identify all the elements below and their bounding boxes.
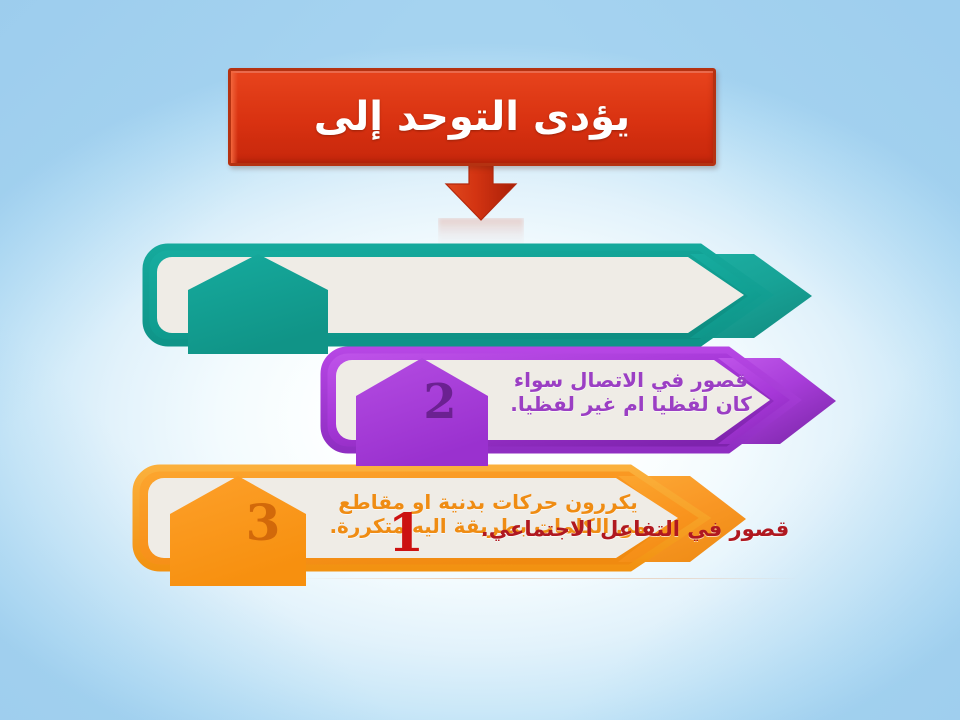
list-item-2[interactable]: 2 قصور في الاتصال سواء كان لفظيا ام غير … — [318, 344, 866, 466]
row-2-text: قصور في الاتصال سواء كان لفظيا ام غير لف… — [486, 368, 776, 417]
row-1-number: 1 — [336, 508, 476, 560]
row-3-number: 3 — [198, 498, 328, 548]
list-item-1[interactable]: 1 قصور في التفاعل الاجتماعي. — [140, 242, 840, 354]
down-arrow-icon — [442, 160, 520, 222]
title-banner: يؤدى التوحد إلى — [228, 68, 716, 166]
page-title: يؤدى التوحد إلى — [314, 97, 630, 137]
title-box: يؤدى التوحد إلى — [228, 68, 716, 166]
row-2-number: 2 — [380, 378, 500, 426]
row-1-text: قصور في التفاعل الاجتماعي. — [470, 517, 800, 543]
slide-canvas: يؤدى التوحد إلى — [0, 0, 960, 720]
